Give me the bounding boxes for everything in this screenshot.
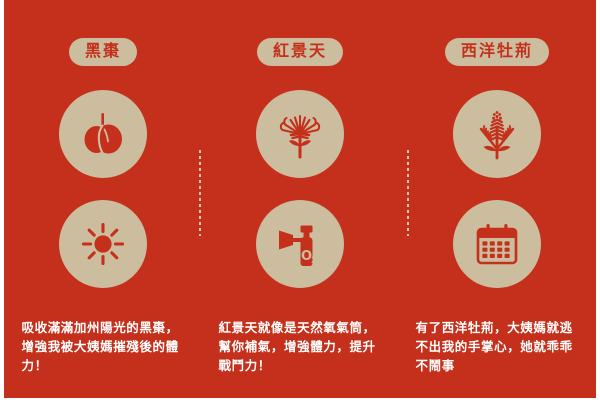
ingredient-caption-2: 紅景天就像是天然氧氣筒，幫你補氣，增強體力，提升戰鬥力！: [219, 318, 382, 375]
column-separator-2: [407, 150, 409, 236]
plum-fruit-icon: [75, 106, 131, 162]
rhodiola-flower-icon: [271, 105, 329, 163]
ingredient-caption-1: 吸收滿滿加州陽光的黑棗，增強我被大姨媽摧殘後的體力！: [22, 318, 185, 375]
bottom-white-band: [0, 398, 600, 405]
poster-canvas: 黑棗: [4, 0, 596, 398]
ingredient-title-pill-2: 紅景天: [257, 38, 343, 66]
ingredient-title-pill-1: 黑棗: [69, 38, 137, 66]
icon-disc-rhodiola-flower: [256, 90, 344, 178]
ingredient-column-3: 西洋牡荊: [402, 0, 592, 398]
icon-disc-plum-fruit: [59, 90, 147, 178]
oxygen-subscript-text: 2: [311, 256, 317, 266]
oxygen-tank-icon: O 2: [271, 215, 329, 273]
ingredient-caption-3: 有了西洋牡荊，大姨媽就逃不出我的手掌心，她就乖乖不鬧事: [416, 318, 579, 375]
ingredient-column-2: 紅景天: [205, 0, 395, 398]
infographic-poster: 黑棗: [0, 0, 600, 405]
column-separator-1: [199, 150, 201, 236]
calendar-icon: [469, 216, 525, 272]
chaste-tree-icon: [468, 105, 526, 163]
icon-disc-oxygen-tank: O 2: [256, 200, 344, 288]
icon-disc-calendar: [453, 200, 541, 288]
icon-disc-sun: [59, 200, 147, 288]
sun-icon: [75, 216, 131, 272]
ingredient-title-pill-3: 西洋牡荊: [445, 38, 549, 66]
ingredient-column-1: 黑棗: [8, 0, 198, 398]
icon-disc-chaste-tree: [453, 90, 541, 178]
